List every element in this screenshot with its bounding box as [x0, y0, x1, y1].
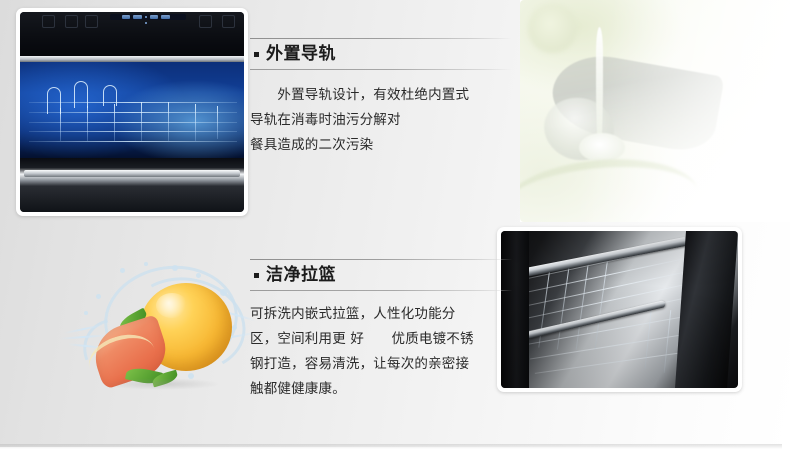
- cup-hook: [47, 87, 61, 114]
- rack-photo-inner: [501, 231, 738, 388]
- square-bullet-icon: [254, 273, 259, 278]
- spoon-white-fade-overlay: [520, 0, 790, 222]
- rack-tine: [168, 102, 169, 140]
- product-detail-page: 外置导轨 外置导轨设计，有效杜绝内置式 导轨在消毒时油污分解对 餐具造成的二次污…: [0, 0, 790, 469]
- feature-heading-outer-rail: 外置导轨: [250, 39, 512, 69]
- feature-heading-text: 洁净拉篮: [266, 266, 336, 285]
- cup-hook: [74, 81, 88, 108]
- feature-block-outer-rail: 外置导轨 外置导轨设计，有效杜绝内置式 导轨在消毒时油污分解对 餐具造成的二次污…: [250, 38, 512, 158]
- dishwasher-sterilizer-interior-photo: [16, 8, 248, 216]
- door-handle: [24, 170, 239, 177]
- grapefruit-water-splash-photo: [60, 258, 260, 398]
- feature-heading-clean-basket: 洁净拉篮: [250, 260, 512, 290]
- display-digit: [150, 15, 158, 19]
- panel-button-icon: [199, 15, 212, 28]
- rack-wire: [29, 141, 237, 142]
- backdrop-shadow: [0, 444, 782, 449]
- panel-button-icon: [222, 15, 235, 28]
- water-droplet: [220, 289, 227, 296]
- water-droplet: [120, 268, 125, 273]
- display-colon-icon: [145, 16, 147, 18]
- rack-tine: [87, 106, 88, 141]
- fruit-photo-inner: [60, 258, 260, 398]
- rack-shading-overlay: [501, 231, 738, 388]
- square-bullet-icon: [254, 52, 259, 57]
- sterilizer-photo-inner: [20, 12, 244, 212]
- display-digit: [133, 15, 141, 19]
- heading-rule-bottom: [250, 290, 512, 291]
- orange-highlight: [156, 293, 188, 318]
- spoon-photo-inner: [520, 0, 790, 222]
- display-digit: [122, 15, 130, 19]
- feature-block-clean-basket: 洁净拉篮 可拆洗内嵌式拉篮，人性化功能分 区，空间利用更 好 优质电镀不锈 钢打…: [250, 259, 512, 402]
- panel-button-icon: [85, 15, 98, 28]
- fruit-ground-shadow: [104, 378, 220, 389]
- display-digit: [161, 15, 169, 19]
- rack-tine: [195, 104, 196, 140]
- feature-body-clean-basket: 可拆洗内嵌式拉篮，人性化功能分 区，空间利用更 好 优质电镀不锈 钢打造，容易清…: [250, 302, 512, 402]
- rack-tine: [114, 104, 115, 140]
- panel-button-icon: [42, 15, 55, 28]
- water-droplet: [172, 265, 178, 271]
- uv-lit-cavity: [20, 62, 244, 158]
- feature-body-outer-rail: 外置导轨设计，有效杜绝内置式 导轨在消毒时油污分解对 餐具造成的二次污染: [250, 83, 512, 158]
- stainless-dish-rack-photo: [497, 227, 742, 392]
- spoon-droplet-photo: [520, 0, 790, 222]
- heading-rule-bottom: [250, 69, 512, 70]
- control-panel: [20, 12, 244, 58]
- cup-hook: [103, 85, 117, 106]
- feature-heading-text: 外置导轨: [266, 45, 336, 64]
- rack-tine: [141, 102, 142, 140]
- cabinet-door: [20, 158, 244, 212]
- rack-tine: [217, 106, 218, 139]
- panel-button-icon: [65, 15, 78, 28]
- digital-display: [110, 14, 186, 20]
